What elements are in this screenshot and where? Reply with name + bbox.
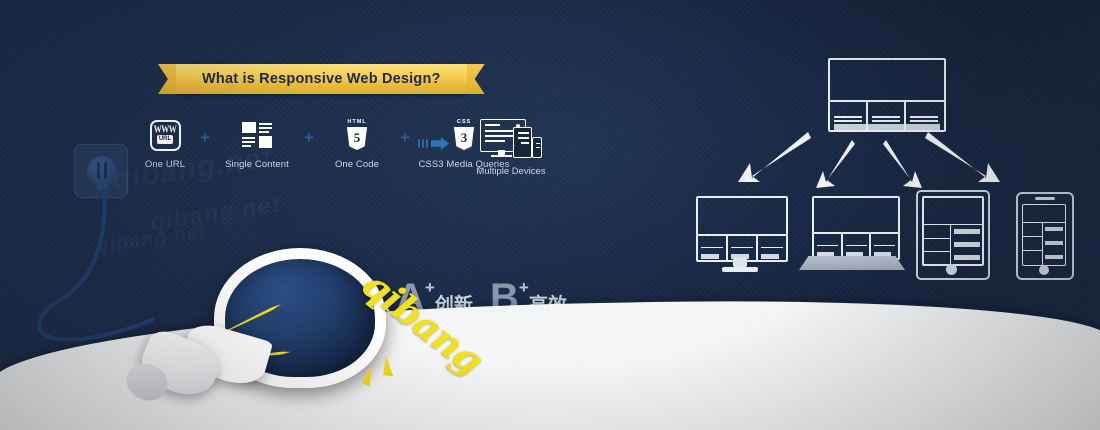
formula-item-label: One Code [318, 159, 396, 170]
html5-number: 5 [354, 131, 361, 144]
responsive-web-design-banner: qibang.net qibang.net qibang.net What is… [0, 0, 1100, 430]
html5-tag: HTML [347, 120, 366, 126]
arrow-down-right-icon [925, 132, 1000, 182]
device-arrows [690, 130, 1100, 200]
master-layout-wireframe [828, 58, 946, 132]
single-content-icon [214, 118, 300, 152]
light-bulb-illustration: qibang [126, 248, 386, 413]
css3-tag: CSS [457, 120, 471, 126]
multiple-devices-label: Multiple Devices [472, 166, 550, 177]
arrow-down-right-icon [883, 140, 922, 188]
formula-item-one-code: HTML 5 One Code [318, 118, 396, 170]
formula-item-label: One URL [134, 159, 196, 170]
formula-row: WWW URL One URL + Single C [134, 118, 514, 170]
benefit-plus: + [425, 278, 435, 297]
www-text: WWW [154, 125, 177, 135]
laptop-wireframe [808, 196, 900, 260]
tablet-wireframe [916, 190, 990, 280]
formula-item-label: Single Content [214, 159, 300, 170]
css3-number: 3 [461, 131, 468, 144]
www-url-icon: WWW URL [134, 118, 196, 152]
formula-item-one-url: WWW URL One URL [134, 118, 196, 170]
plus-operator: + [301, 118, 317, 148]
benefit-plus: + [519, 278, 529, 297]
headline-text: What is Responsive Web Design? [176, 64, 467, 94]
arrow-right-icon [418, 137, 449, 150]
plus-operator: + [197, 118, 213, 148]
url-text: URL [157, 135, 173, 144]
headline-ribbon: What is Responsive Web Design? [176, 64, 467, 94]
arrow-down-left-icon [816, 140, 855, 188]
plus-operator: + [397, 118, 413, 148]
html5-shield-icon: HTML 5 [318, 118, 396, 152]
smartphone-wireframe [1016, 192, 1074, 280]
arrow-down-left-icon [738, 132, 811, 182]
desktop-monitor-wireframe [696, 196, 788, 262]
formula-item-single-content: Single Content [214, 118, 300, 170]
plug-neck [96, 182, 108, 191]
multiple-devices-icon: Multiple Devices [472, 119, 550, 177]
